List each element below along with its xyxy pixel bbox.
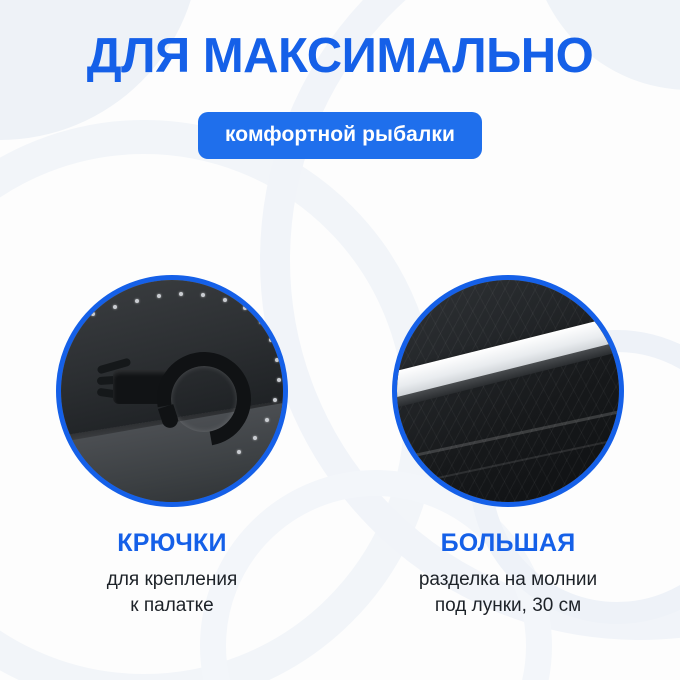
feature-zipper-title: БОЛЬШАЯ xyxy=(358,529,658,558)
feature-hooks-title: КРЮЧКИ xyxy=(22,529,322,558)
hook-photo xyxy=(61,280,283,502)
subtitle-container: комфортной рыбалки xyxy=(0,112,680,159)
promo-banner: ДЛЯ МАКСИМАЛЬНО комфортной рыбалки xyxy=(0,0,680,680)
feature-zipper: БОЛЬШАЯ разделка на молнии под лунки, 30… xyxy=(358,275,658,619)
feature-zipper-desc: разделка на молнии под лунки, 30 см xyxy=(358,567,658,619)
zipper-photo xyxy=(397,280,619,502)
feature-hooks-image xyxy=(56,275,288,507)
subtitle-badge: комфортной рыбалки xyxy=(198,112,482,159)
feature-hooks-desc: для крепления к палатке xyxy=(22,567,322,619)
feature-hooks-desc-line1: для крепления xyxy=(22,567,322,593)
feature-zipper-desc-line2: под лунки, 30 см xyxy=(358,593,658,619)
feature-zipper-image xyxy=(392,275,624,507)
tent-hook-icon xyxy=(113,356,225,428)
feature-hooks: КРЮЧКИ для крепления к палатке xyxy=(22,275,322,619)
feature-zipper-desc-line1: разделка на молнии xyxy=(358,567,658,593)
page-title: ДЛЯ МАКСИМАЛЬНО xyxy=(0,28,680,84)
feature-hooks-desc-line2: к палатке xyxy=(22,593,322,619)
